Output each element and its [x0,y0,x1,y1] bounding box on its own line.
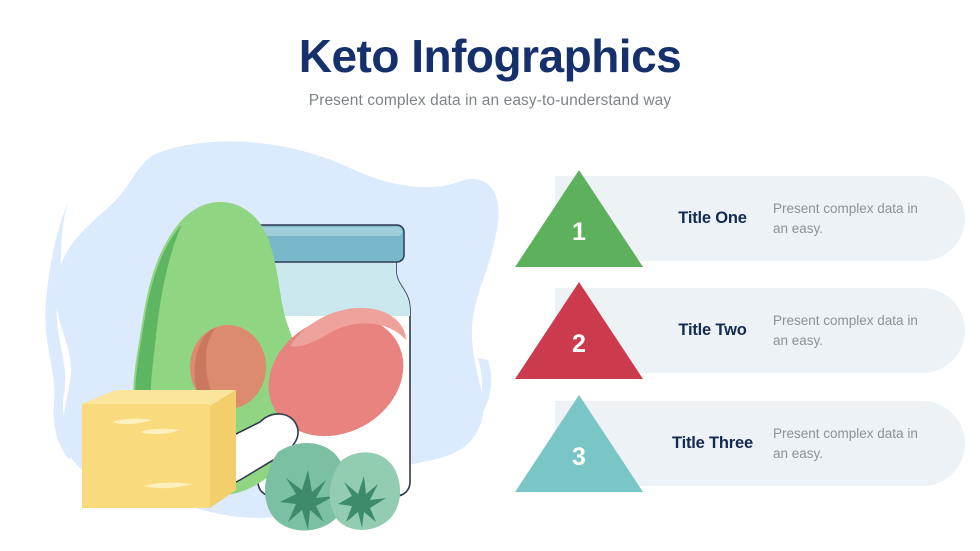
infographic-rows: 1 Title One Present complex data in an e… [515,170,965,520]
row-3-title: Title Three [650,395,775,492]
infographic-row-1[interactable]: 1 Title One Present complex data in an e… [515,170,965,267]
page-subtitle: Present complex data in an easy-to-under… [0,92,980,110]
slide-header: Keto Infographics Present complex data i… [0,32,980,110]
row-2-number: 2 [515,332,643,357]
row-2-title: Title Two [650,282,775,379]
row-1-title: Title One [650,170,775,267]
butter-block [82,390,236,508]
row-2-description: Present complex data in an easy. [773,282,923,379]
keto-food-illustration [40,130,510,540]
infographic-row-3[interactable]: 3 Title Three Present complex data in an… [515,395,965,492]
row-1-description: Present complex data in an easy. [773,170,923,267]
slide-canvas: Keto Infographics Present complex data i… [0,0,980,551]
row-3-number: 3 [515,445,643,470]
butter-side-face [210,390,236,508]
infographic-row-2[interactable]: 2 Title Two Present complex data in an e… [515,282,965,379]
jar-lid-top-highlight [254,227,402,236]
page-title: Keto Infographics [0,32,980,80]
broccoli-right [330,452,400,530]
row-3-description: Present complex data in an easy. [773,395,923,492]
row-1-number: 1 [515,220,643,245]
